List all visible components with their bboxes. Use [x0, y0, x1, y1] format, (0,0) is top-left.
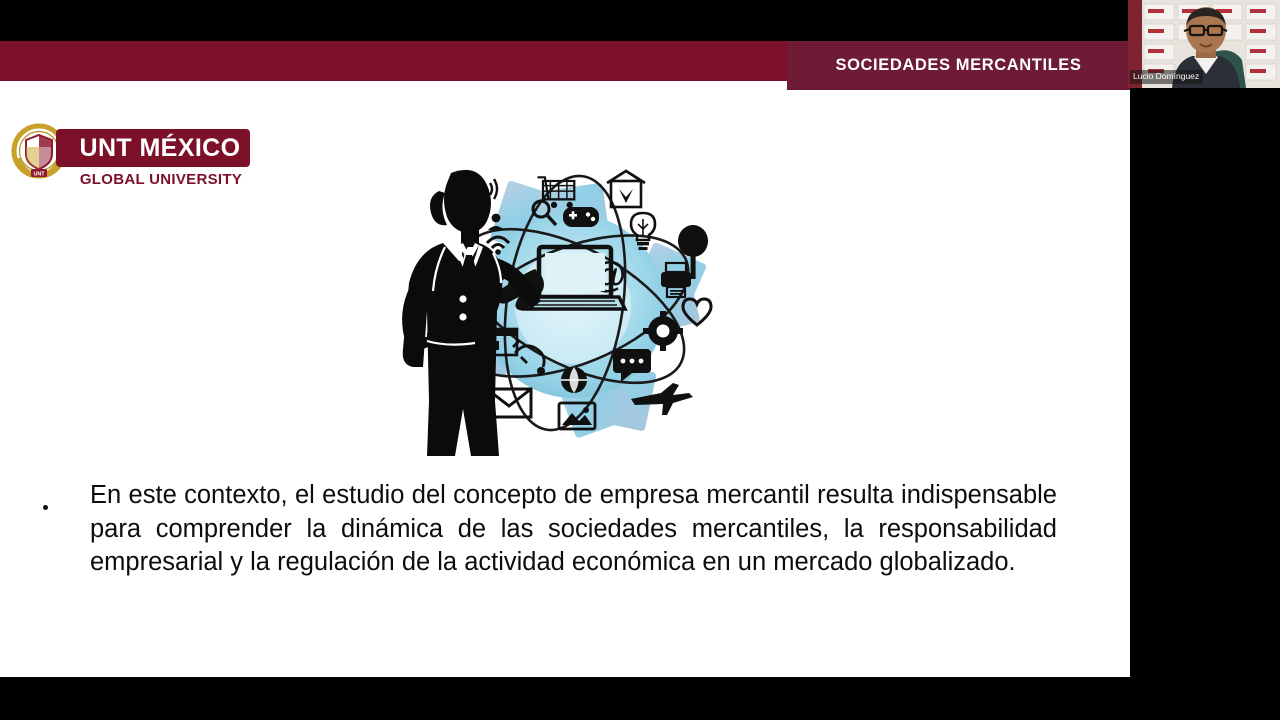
businesswoman-technology-network-illustration: @ [383, 151, 717, 456]
presentation-viewport: SOCIEDADES MERCANTILES UNT UNT MÉXICO [0, 0, 1280, 720]
brand-name-banner: UNT MÉXICO [56, 129, 250, 167]
brand-subtitle: GLOBAL UNIVERSITY [68, 171, 254, 188]
slide-canvas: SOCIEDADES MERCANTILES UNT UNT MÉXICO [0, 41, 1130, 677]
slide-title: SOCIEDADES MERCANTILES [835, 56, 1081, 75]
slide-body-paragraph: En este contexto, el estudio del concept… [90, 479, 1057, 580]
brand-name: UNT MÉXICO [66, 134, 241, 163]
svg-text:UNT: UNT [33, 171, 45, 177]
participant-name-label: Lucio Domínguez [1130, 70, 1203, 84]
brand-logo: UNT UNT MÉXICO GLOBAL UNIVERSITY [4, 85, 254, 190]
paragraph-bullet [43, 505, 48, 510]
video-participant-tile[interactable]: Lucio Domínguez [1128, 0, 1280, 88]
slide-title-plate: SOCIEDADES MERCANTILES [787, 41, 1130, 90]
